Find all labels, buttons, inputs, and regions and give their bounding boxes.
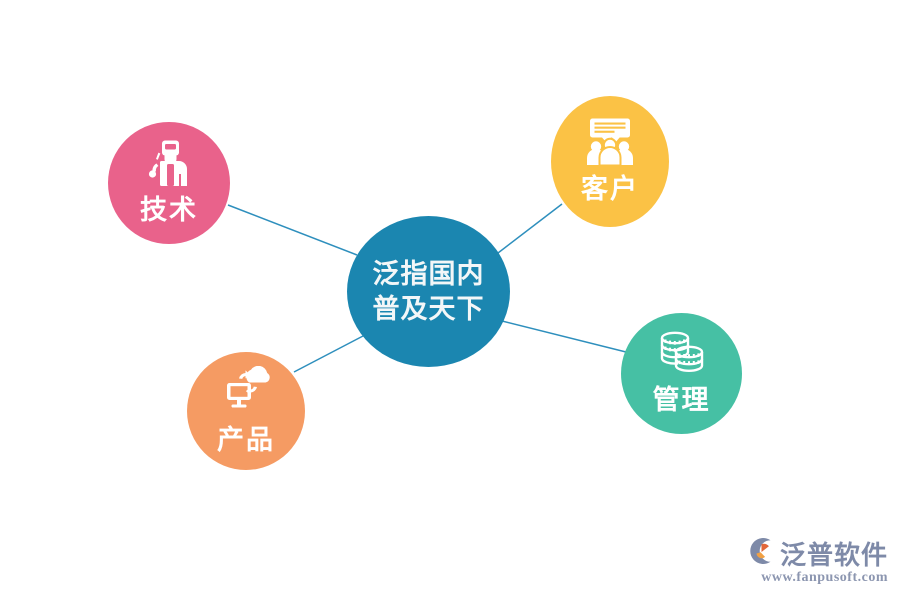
node-customer-label: 客户 [581,167,639,206]
connector-hub-to-customer [498,204,562,253]
watermark-brand-row: 泛普软件 [746,535,888,572]
center-hub-label-line1: 泛指国内 [373,257,485,292]
node-tech-label: 技术 [140,188,198,227]
cloud-monitor-sync-icon [219,366,273,414]
node-manage[interactable]: 管理 [621,313,742,434]
node-product[interactable]: 产品 [187,352,305,470]
center-hub-label: 泛指国内 普及天下 [373,257,485,326]
connector-hub-to-tech [228,205,357,255]
center-hub-label-line2: 普及天下 [373,292,485,327]
center-hub-node[interactable]: 泛指国内 普及天下 [347,216,510,367]
watermark: 泛普软件 www.fanpusoft.com [746,535,888,586]
watermark-url-text: www.fanpusoft.com [761,570,888,586]
node-customer[interactable]: 客户 [551,96,669,227]
connector-hub-to-manage [498,320,630,353]
diagram-canvas: 泛指国内 普及天下 技术 [0,0,900,600]
connector-hub-to-product [294,336,363,372]
node-tech[interactable]: 技术 [108,122,230,244]
fanpu-swoosh-logo-icon [746,536,776,571]
coin-stack-icon [655,330,709,374]
welder-icon [143,140,195,186]
watermark-brand-text: 泛普软件 [780,535,888,572]
node-product-label: 产品 [217,418,275,457]
customer-group-icon [583,118,637,166]
node-manage-label: 管理 [653,378,711,417]
